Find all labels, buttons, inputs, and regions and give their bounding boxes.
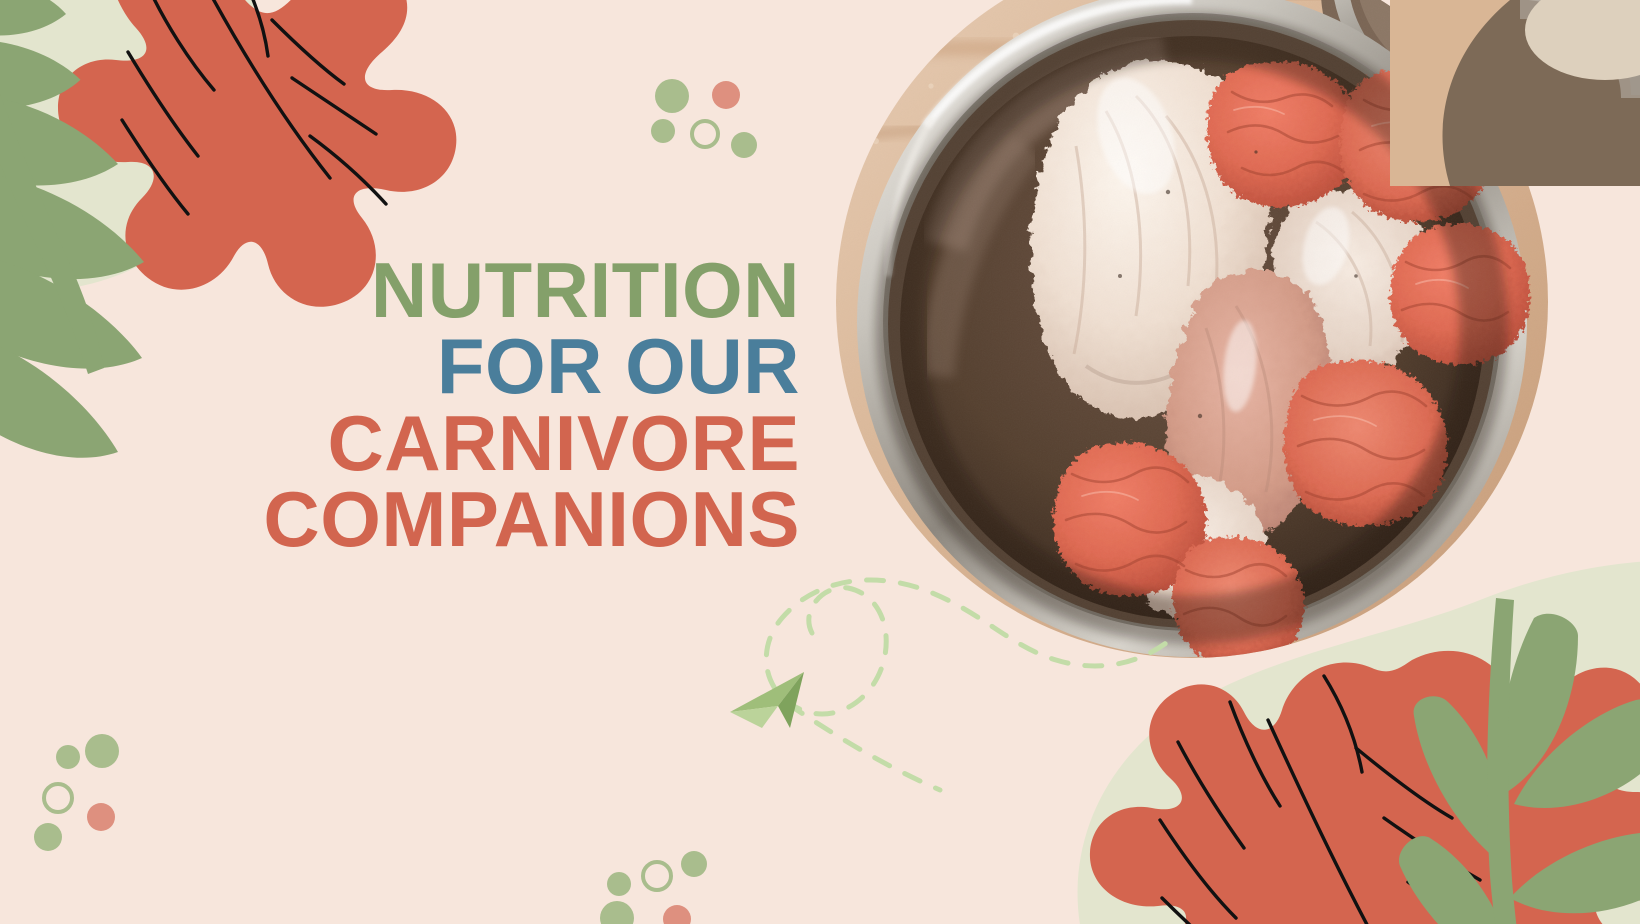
dot (87, 803, 115, 831)
dots-bottom-center (600, 851, 707, 924)
dot (681, 851, 707, 877)
paper-plane-icon (730, 672, 804, 728)
dot-outline (643, 862, 671, 890)
dot (34, 823, 62, 851)
title-line-nutrition: NUTRITION (160, 252, 800, 328)
dot (600, 901, 634, 924)
title-line-carnivore: CARNIVORE (160, 405, 800, 481)
dot (731, 132, 757, 158)
dot (651, 119, 675, 143)
blob-top-left (0, 0, 254, 294)
poster-canvas: NUTRITION FOR OUR CARNIVORE COMPANIONS (0, 0, 1640, 924)
dot-outline (692, 121, 718, 147)
secondary-bowl-photo (1390, 0, 1640, 186)
dot (607, 872, 631, 896)
poster-title: NUTRITION FOR OUR CARNIVORE COMPANIONS (160, 252, 800, 558)
dot (712, 81, 740, 109)
title-line-for-our: FOR OUR (160, 328, 800, 404)
dot (56, 745, 80, 769)
dots-top-center (651, 79, 757, 158)
monstera-leaf-bottom-right-icon (1090, 651, 1640, 924)
dot (655, 79, 689, 113)
dot-outline (44, 784, 72, 812)
olive-branch-top-left-icon (0, 0, 144, 458)
paper-plane-trail-tail (788, 704, 940, 790)
dots-bottom-left (34, 734, 119, 851)
dot (85, 734, 119, 768)
title-line-companions: COMPANIONS (160, 481, 800, 557)
dot (663, 905, 691, 924)
